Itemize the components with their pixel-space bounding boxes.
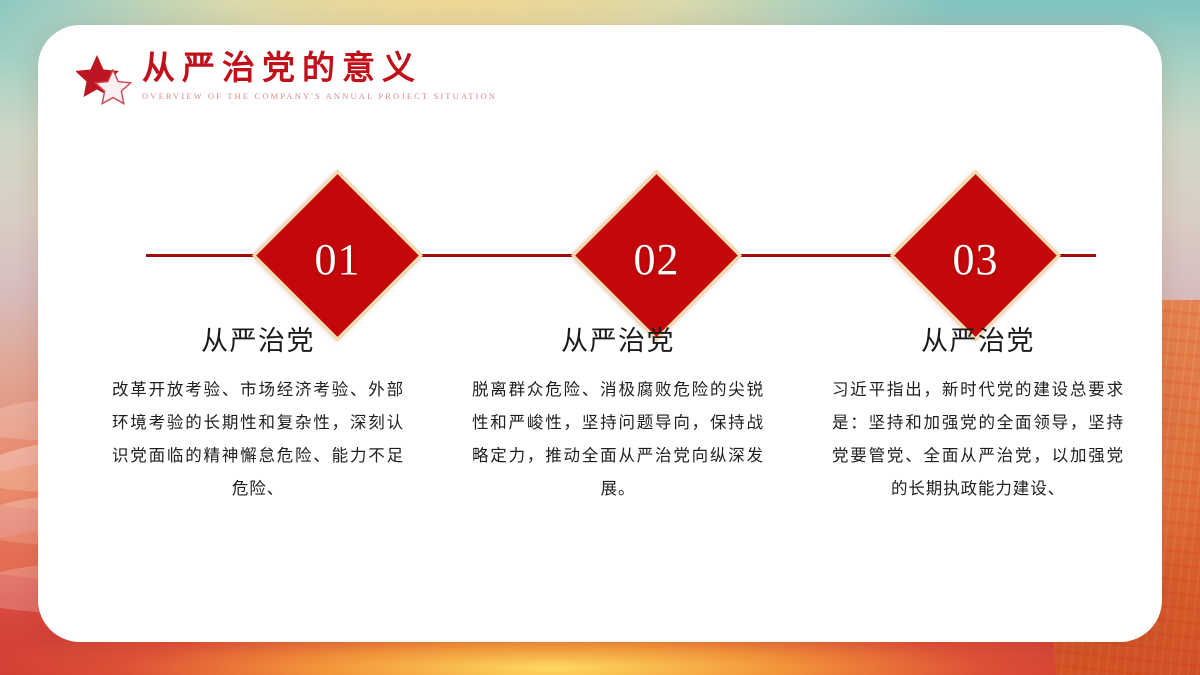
timeline-marker-number: 02 bbox=[596, 199, 717, 320]
column-heading: 从严治党 bbox=[468, 325, 768, 359]
timeline: 01 02 03 bbox=[108, 195, 1128, 320]
page-subtitle: OVERVIEW OF THE COMPANY'S ANNUAL PROJECT… bbox=[142, 91, 497, 101]
column-body-text: 脱离群众危险、消极腐败危险的尖锐性和严峻性，坚持问题导向，保持战略定力，推动全面… bbox=[468, 373, 768, 505]
column-heading: 从严治党 bbox=[828, 325, 1128, 359]
column-body-text: 习近平指出，新时代党的建设总要求是：坚持和加强党的全面领导，坚持党要管党、全面从… bbox=[828, 373, 1128, 505]
content-card: 从严治党的意义 OVERVIEW OF THE COMPANY'S ANNUAL… bbox=[38, 25, 1162, 642]
timeline-marker-03[interactable]: 03 bbox=[890, 170, 1061, 341]
content-columns: 从严治党 改革开放考验、市场经济考验、外部环境考验的长期性和复杂性，深刻认识党面… bbox=[108, 325, 1128, 505]
timeline-marker-01[interactable]: 01 bbox=[252, 170, 423, 341]
title-text-group: 从严治党的意义 OVERVIEW OF THE COMPANY'S ANNUAL… bbox=[142, 45, 497, 101]
column-body-text: 改革开放考验、市场经济考验、外部环境考验的长期性和复杂性，深刻认识党面临的精神懈… bbox=[108, 373, 408, 505]
double-star-icon bbox=[76, 53, 134, 111]
column-heading: 从严治党 bbox=[108, 325, 408, 359]
content-column-01: 从严治党 改革开放考验、市场经济考验、外部环境考验的长期性和复杂性，深刻认识党面… bbox=[108, 325, 408, 505]
slide: 从严治党的意义 OVERVIEW OF THE COMPANY'S ANNUAL… bbox=[0, 0, 1200, 675]
content-column-02: 从严治党 脱离群众危险、消极腐败危险的尖锐性和严峻性，坚持问题导向，保持战略定力… bbox=[468, 325, 768, 505]
content-column-03: 从严治党 习近平指出，新时代党的建设总要求是：坚持和加强党的全面领导，坚持党要管… bbox=[828, 325, 1128, 505]
timeline-marker-number: 03 bbox=[915, 199, 1036, 320]
page-title-block: 从严治党的意义 OVERVIEW OF THE COMPANY'S ANNUAL… bbox=[76, 45, 497, 111]
timeline-marker-number: 01 bbox=[277, 199, 398, 320]
page-title: 从严治党的意义 bbox=[142, 49, 497, 88]
timeline-marker-02[interactable]: 02 bbox=[571, 170, 742, 341]
